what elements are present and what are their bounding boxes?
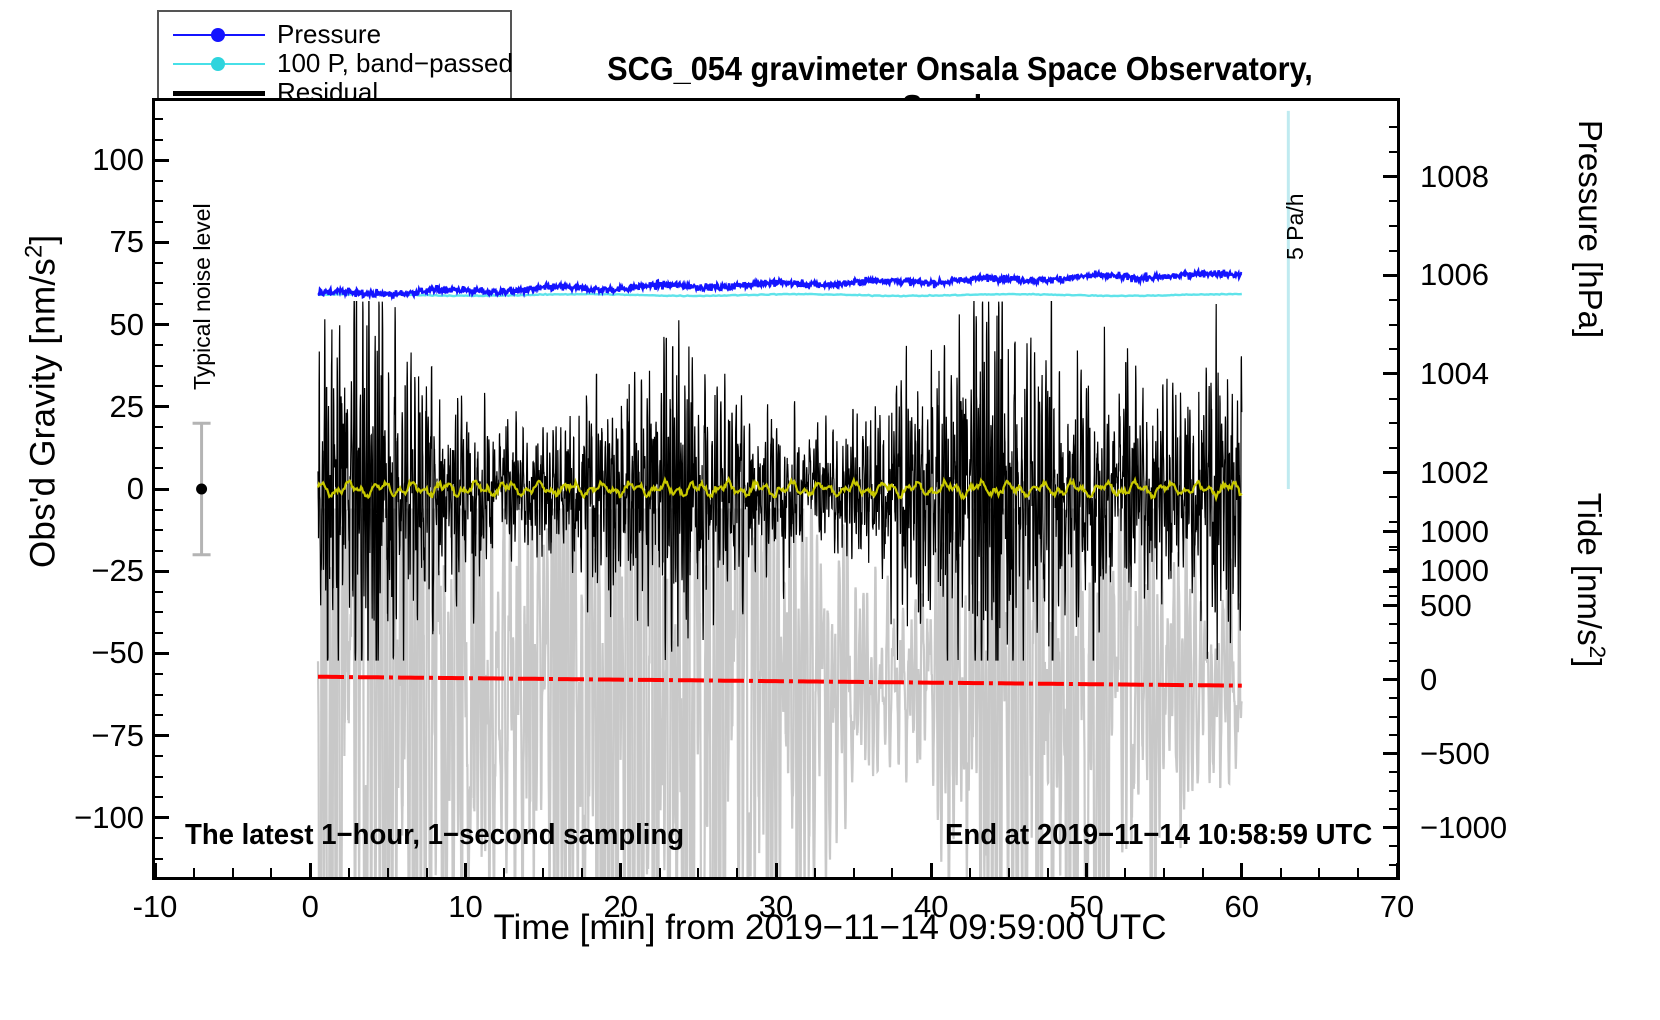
- y-minor-tick-left: [155, 509, 163, 511]
- y-minor-tick-left: [155, 858, 163, 860]
- x-minor-tick: [581, 868, 583, 877]
- x-tick-label: 50: [1027, 891, 1147, 922]
- plot-area[interactable]: The latest 1−hour, 1−second sampling End…: [152, 98, 1400, 880]
- y-minor-tick-right-pressure: [1389, 521, 1397, 523]
- y-minor-tick-left: [155, 180, 163, 182]
- y-tick-label-left: −100: [74, 802, 144, 833]
- y-minor-tick-left: [155, 694, 163, 696]
- legend-label-pressure: Pressure: [277, 19, 381, 50]
- x-minor-tick: [1008, 868, 1010, 877]
- y-minor-tick-right-tide: [1389, 697, 1397, 699]
- x-minor-tick: [426, 868, 428, 877]
- y-tick-label-right-tide: −500: [1420, 738, 1490, 769]
- y-minor-tick-right-tide: [1389, 568, 1397, 570]
- y-tick-left: [155, 323, 169, 326]
- x-tick: [154, 863, 157, 877]
- y-minor-tick-right-pressure: [1389, 348, 1397, 350]
- legend-label-bandpassed: 100 P, band−passed: [277, 48, 513, 79]
- y-minor-tick-right-tide: [1389, 586, 1397, 588]
- y-minor-tick-right-pressure: [1389, 225, 1397, 227]
- x-minor-tick: [503, 868, 505, 877]
- x-tick-label: 0: [250, 891, 370, 922]
- y-tick-left: [155, 816, 169, 819]
- y-minor-tick-left: [155, 303, 163, 305]
- y-minor-tick-right-pressure: [1389, 595, 1397, 597]
- x-minor-tick: [348, 868, 350, 877]
- y-minor-tick-left: [155, 365, 163, 367]
- y-tick-right-tide: [1383, 752, 1397, 755]
- chart-svg: [155, 101, 1397, 877]
- y-minor-tick-left: [155, 118, 163, 120]
- y-tick-label-right-pressure: 1006: [1420, 259, 1489, 290]
- y-tick-label-right-pressure: 1002: [1420, 457, 1489, 488]
- x-tick: [464, 863, 467, 877]
- y-tick-label-left: −75: [91, 720, 144, 751]
- x-minor-tick: [1280, 868, 1282, 877]
- y-minor-tick-left: [155, 529, 163, 531]
- y-tick-right-tide: [1383, 826, 1397, 829]
- y-minor-tick-right-pressure: [1389, 126, 1397, 128]
- y-minor-tick-right-tide: [1389, 623, 1397, 625]
- y-minor-tick-left: [155, 221, 163, 223]
- y-minor-tick-right-pressure: [1389, 299, 1397, 301]
- y-tick-label-right-tide: 500: [1420, 590, 1472, 621]
- noise-level-marker: [193, 423, 211, 555]
- x-minor-tick: [1047, 868, 1049, 877]
- y-minor-tick-left: [155, 837, 163, 839]
- x-tick: [309, 863, 312, 877]
- y-tick-right-pressure: [1383, 372, 1397, 375]
- y-tick-left: [155, 241, 169, 244]
- x-tick: [930, 863, 933, 877]
- y-tick-label-left: 75: [110, 226, 144, 257]
- pressure-scale-label: 5 Pa/h: [1282, 194, 1309, 261]
- plot-canvas: [155, 101, 1397, 877]
- legend-item-bandpassed[interactable]: 100 P, band−passed: [173, 49, 510, 78]
- y-minor-tick-left: [155, 344, 163, 346]
- y-minor-tick-right-tide: [1389, 808, 1397, 810]
- y-minor-tick-right-tide: [1389, 771, 1397, 773]
- y-tick-label-left: −50: [91, 637, 144, 668]
- y-minor-tick-right-tide: [1389, 716, 1397, 718]
- x-tick-label: -10: [95, 891, 215, 922]
- y-minor-tick-right-pressure: [1389, 447, 1397, 449]
- y-minor-tick-left: [155, 385, 163, 387]
- x-minor-tick: [969, 868, 971, 877]
- x-minor-tick: [736, 868, 738, 877]
- sampling-note: The latest 1−hour, 1−second sampling: [185, 819, 684, 852]
- x-minor-tick: [697, 868, 699, 877]
- y-tick-right-pressure: [1383, 274, 1397, 277]
- y-minor-tick-right-tide: [1389, 864, 1397, 866]
- x-minor-tick: [232, 868, 234, 877]
- y-tick-left: [155, 734, 169, 737]
- y-tick-right-tide: [1383, 530, 1397, 533]
- y-minor-tick-right-pressure: [1389, 496, 1397, 498]
- y-tick-right-pressure: [1383, 570, 1397, 573]
- y-tick-right-tide: [1383, 604, 1397, 607]
- y-minor-tick-left: [155, 200, 163, 202]
- x-tick-label: 30: [716, 891, 836, 922]
- legend-swatch-pressure: [173, 25, 265, 45]
- y-tick-label-left: −25: [91, 555, 144, 586]
- x-tick: [775, 863, 778, 877]
- y-tick-label-right-pressure: 1000: [1420, 555, 1489, 586]
- y-tick-label-left: 50: [110, 309, 144, 340]
- x-tick-label: 20: [561, 891, 681, 922]
- y-tick-right-pressure: [1383, 471, 1397, 474]
- y-tick-left: [155, 405, 169, 408]
- end-time-note: End at 2019−11−14 10:58:59 UTC: [945, 819, 1372, 852]
- x-tick: [619, 863, 622, 877]
- y-tick-label-right-tide: 0: [1420, 664, 1437, 695]
- y-minor-tick-left: [155, 755, 163, 757]
- x-minor-tick: [1202, 868, 1204, 877]
- y-tick-left: [155, 488, 169, 491]
- y-minor-tick-right-tide: [1389, 845, 1397, 847]
- x-tick: [1085, 863, 1088, 877]
- y-tick-left: [155, 570, 169, 573]
- y-minor-tick-right-tide: [1389, 549, 1397, 551]
- y-minor-tick-right-pressure: [1389, 200, 1397, 202]
- y-tick-label-right-tide: 1000: [1420, 516, 1489, 547]
- legend-item-pressure[interactable]: Pressure: [173, 20, 510, 49]
- x-tick: [1240, 863, 1243, 877]
- noise-level-label: Typical noise level: [189, 203, 216, 390]
- y-tick-label-right-pressure: 1008: [1420, 161, 1489, 192]
- y-minor-tick-left: [155, 550, 163, 552]
- y-axis-right-tide-title: Tide [nm/s2]: [1570, 370, 1610, 790]
- y-minor-tick-right-pressure: [1389, 151, 1397, 153]
- x-minor-tick: [1163, 868, 1165, 877]
- x-minor-tick: [1357, 868, 1359, 877]
- y-minor-tick-right-pressure: [1389, 250, 1397, 252]
- x-minor-tick: [891, 868, 893, 877]
- y-minor-tick-left: [155, 426, 163, 428]
- y-axis-left-title: Obs'd Gravity [nm/s2]: [21, 121, 64, 681]
- y-tick-label-right-pressure: 1004: [1420, 358, 1489, 389]
- x-tick-label: 60: [1182, 891, 1302, 922]
- x-minor-tick: [1318, 868, 1320, 877]
- y-minor-tick-left: [155, 611, 163, 613]
- legend-swatch-bandpassed: [173, 54, 265, 74]
- y-minor-tick-left: [155, 591, 163, 593]
- y-minor-tick-right-pressure: [1389, 422, 1397, 424]
- y-minor-tick-left: [155, 632, 163, 634]
- y-minor-tick-left: [155, 447, 163, 449]
- y-minor-tick-left: [155, 282, 163, 284]
- y-tick-label-left: 100: [92, 144, 144, 175]
- y-tick-label-left: 25: [110, 391, 144, 422]
- y-tick-left: [155, 159, 169, 162]
- y-minor-tick-left: [155, 262, 163, 264]
- x-minor-tick: [1124, 868, 1126, 877]
- x-minor-tick: [387, 868, 389, 877]
- y-minor-tick-left: [155, 467, 163, 469]
- x-minor-tick: [853, 868, 855, 877]
- y-minor-tick-right-pressure: [1389, 546, 1397, 548]
- x-minor-tick: [270, 868, 272, 877]
- y-minor-tick-right-tide: [1389, 790, 1397, 792]
- y-minor-tick-right-pressure: [1389, 324, 1397, 326]
- y-minor-tick-right-pressure: [1389, 398, 1397, 400]
- x-minor-tick: [659, 868, 661, 877]
- y-tick-right-tide: [1383, 678, 1397, 681]
- y-minor-tick-left: [155, 714, 163, 716]
- x-tick-label: 40: [871, 891, 991, 922]
- y-minor-tick-right-tide: [1389, 642, 1397, 644]
- y-minor-tick-left: [155, 776, 163, 778]
- x-minor-tick: [193, 868, 195, 877]
- y-minor-tick-right-tide: [1389, 734, 1397, 736]
- y-minor-tick-left: [155, 673, 163, 675]
- x-tick-label: 70: [1337, 891, 1457, 922]
- x-tick-label: 10: [406, 891, 526, 922]
- y-tick-label-right-tide: −1000: [1420, 812, 1507, 843]
- y-minor-tick-left: [155, 139, 163, 141]
- x-minor-tick: [814, 868, 816, 877]
- x-minor-tick: [542, 868, 544, 877]
- y-tick-label-left: 0: [127, 473, 144, 504]
- y-minor-tick-left: [155, 796, 163, 798]
- y-tick-left: [155, 652, 169, 655]
- y-tick-right-pressure: [1383, 175, 1397, 178]
- y-minor-tick-right-tide: [1389, 660, 1397, 662]
